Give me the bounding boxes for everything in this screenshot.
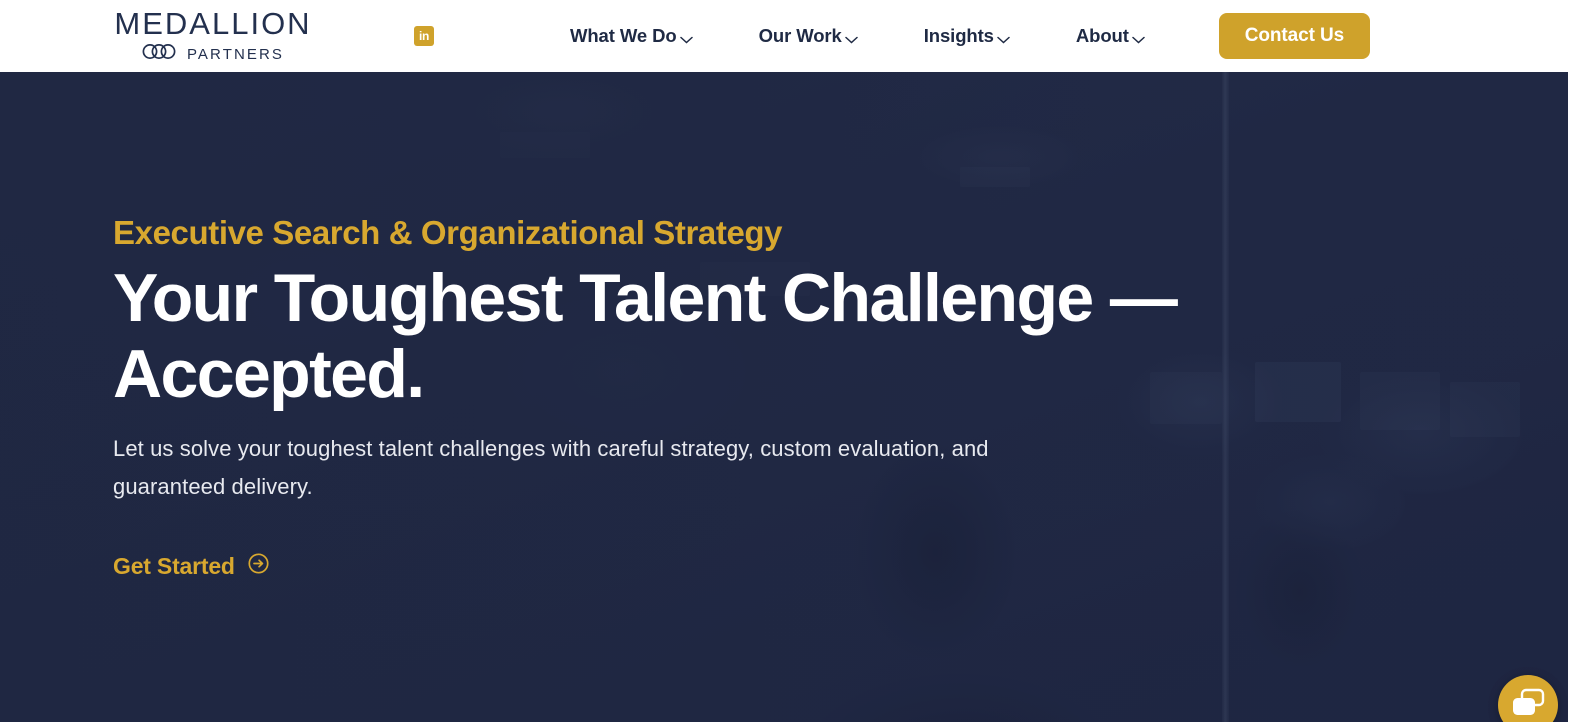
social-links: in bbox=[414, 26, 434, 46]
hero-subtitle: Let us solve your toughest talent challe… bbox=[113, 430, 1018, 506]
scrollbar-gutter[interactable] bbox=[1568, 0, 1591, 722]
chevron-down-icon bbox=[1132, 27, 1145, 49]
chevron-down-icon bbox=[845, 27, 858, 49]
get-started-link[interactable]: Get Started bbox=[113, 553, 269, 580]
chevron-down-icon bbox=[997, 27, 1010, 49]
brand-logo[interactable]: MEDALLION PARTNERS bbox=[110, 8, 316, 64]
chevron-down-icon bbox=[680, 27, 693, 49]
nav-label: What We Do bbox=[570, 25, 677, 47]
logo-wordmark: MEDALLION bbox=[114, 8, 311, 39]
linkedin-icon[interactable]: in bbox=[414, 26, 434, 46]
nav-label: About bbox=[1076, 25, 1129, 47]
arrow-right-circle-icon bbox=[248, 553, 269, 580]
nav-item-about[interactable]: About bbox=[1076, 24, 1145, 49]
logo-partners-text: PARTNERS bbox=[187, 47, 284, 62]
hero-content: Executive Search & Organizational Strate… bbox=[0, 72, 1568, 722]
nav-item-what-we-do[interactable]: What We Do bbox=[570, 24, 693, 49]
main-navigation: What We Do Our Work Insights About bbox=[570, 24, 1145, 49]
three-overlapping-rings-icon bbox=[142, 44, 182, 64]
nav-item-our-work[interactable]: Our Work bbox=[759, 24, 858, 49]
nav-label: Insights bbox=[924, 25, 994, 47]
chat-bubbles-icon bbox=[1511, 688, 1545, 722]
hero-section: Executive Search & Organizational Strate… bbox=[0, 72, 1568, 722]
get-started-label: Get Started bbox=[113, 553, 235, 580]
contact-us-button[interactable]: Contact Us bbox=[1219, 13, 1370, 59]
hero-eyebrow: Executive Search & Organizational Strate… bbox=[113, 214, 1568, 252]
page-root: MEDALLION PARTNERS in What We Do bbox=[0, 0, 1591, 722]
site-header: MEDALLION PARTNERS in What We Do bbox=[0, 0, 1568, 72]
nav-label: Our Work bbox=[759, 25, 842, 47]
hero-headline: Your Toughest Talent Challenge — Accepte… bbox=[113, 260, 1233, 412]
nav-item-insights[interactable]: Insights bbox=[924, 24, 1010, 49]
logo-subline: PARTNERS bbox=[142, 44, 284, 64]
